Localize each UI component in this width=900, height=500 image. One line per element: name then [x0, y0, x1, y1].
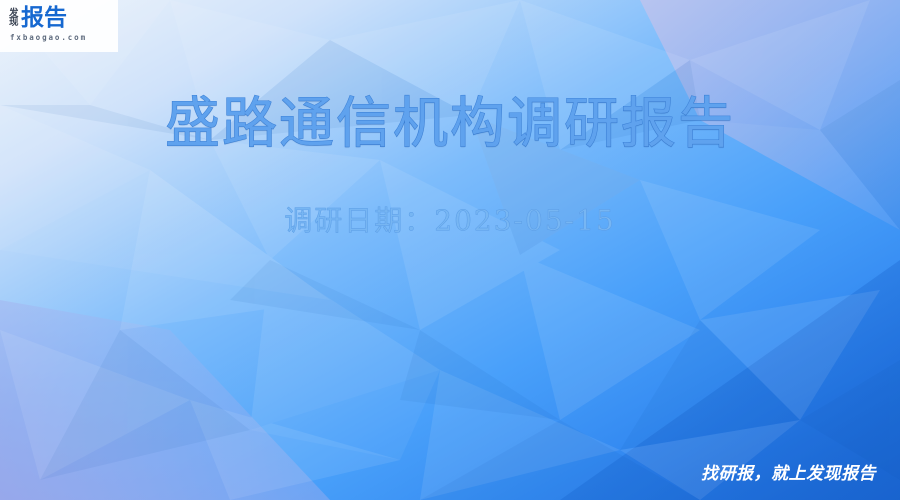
logo-stacked-characters: 发 现 [9, 9, 18, 30]
logo-wordmark: 报告 [21, 7, 67, 30]
logo-url: fxbaogao.com [10, 33, 87, 42]
logo-top-row: 发 现 报告 [9, 7, 87, 30]
report-cover-slide: 发 现 报告 fxbaogao.com 盛路通信机构调研报告 调研日期：2023… [0, 0, 900, 500]
logo-stack-line-2: 现 [9, 18, 18, 28]
site-logo[interactable]: 发 现 报告 fxbaogao.com [0, 0, 118, 52]
brand-watermark: 找研报，就上发现报告 [701, 459, 876, 484]
logo-inner: 发 现 报告 fxbaogao.com [9, 7, 87, 42]
low-poly-background [0, 0, 900, 500]
